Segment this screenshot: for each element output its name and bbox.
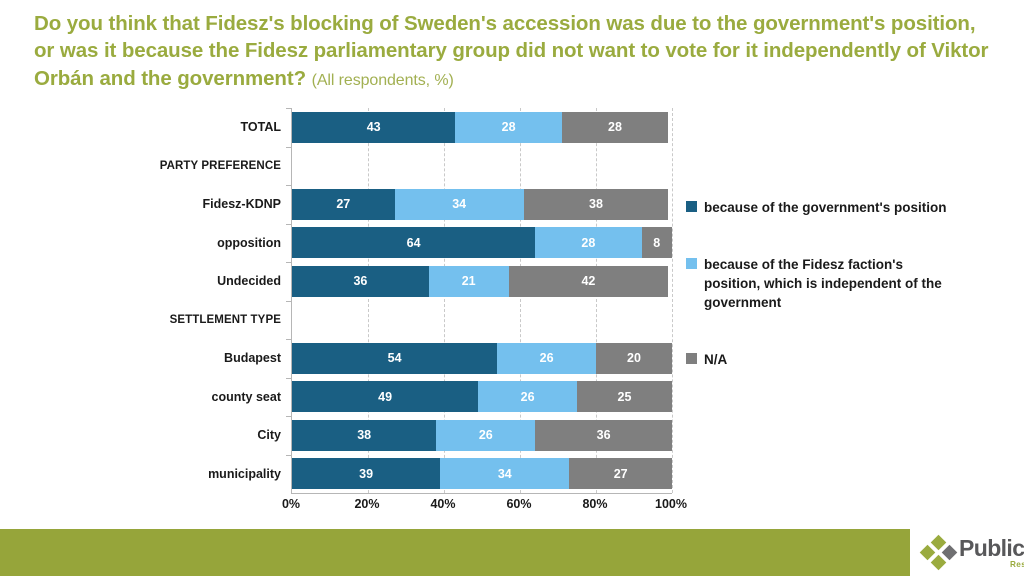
legend-label: N/A xyxy=(704,350,727,369)
legend-item[interactable]: because of the government's position xyxy=(686,198,947,217)
title-main: Do you think that Fidesz's blocking of S… xyxy=(34,12,988,90)
x-tick-label: 80% xyxy=(582,497,607,511)
category-label: Budapest xyxy=(142,339,292,378)
footer-bar xyxy=(0,529,910,576)
chart-bar-row: county seat492625 xyxy=(292,378,671,417)
bar-segment: 28 xyxy=(535,227,641,258)
stacked-bar: 432828 xyxy=(292,112,672,143)
bar-segment: 64 xyxy=(292,227,535,258)
stacked-bar: 273438 xyxy=(292,189,672,220)
bar-segment: 39 xyxy=(292,458,440,489)
stacked-bar: 393427 xyxy=(292,458,672,489)
slide: Do you think that Fidesz's blocking of S… xyxy=(0,0,1024,576)
bar-segment: 34 xyxy=(440,458,569,489)
bar-segment: 20 xyxy=(596,343,672,374)
group-label: SETTLEMENT TYPE xyxy=(142,301,292,340)
bar-segment: 54 xyxy=(292,343,497,374)
bar-segment: 27 xyxy=(569,458,672,489)
bar-segment: 8 xyxy=(642,227,672,258)
chart-bar-row: City382636 xyxy=(292,416,671,455)
x-tick-label: 20% xyxy=(354,497,379,511)
legend-item[interactable]: N/A xyxy=(686,350,727,369)
chart-bar-row: Fidesz-KDNP273438 xyxy=(292,185,671,224)
publicus-logo: Publicus Research xyxy=(922,536,1024,570)
bar-segment: 43 xyxy=(292,112,455,143)
category-label: county seat xyxy=(142,378,292,417)
diamond-cluster-icon xyxy=(922,536,956,570)
bar-segment: 21 xyxy=(429,266,509,297)
x-axis-line xyxy=(291,493,672,494)
chart-group-row: PARTY PREFERENCE xyxy=(292,147,671,186)
bar-segment: 38 xyxy=(524,189,668,220)
bar-segment: 26 xyxy=(478,381,577,412)
stacked-bar-chart: TOTAL432828PARTY PREFERENCEFidesz-KDNP27… xyxy=(0,103,700,513)
x-tick-label: 60% xyxy=(506,497,531,511)
category-label: City xyxy=(142,416,292,455)
logo-text: Publicus Research xyxy=(959,537,1024,569)
stacked-bar: 64288 xyxy=(292,227,672,258)
bar-segment: 27 xyxy=(292,189,395,220)
title-subtitle: (All respondents, %) xyxy=(312,72,454,89)
legend-swatch xyxy=(686,353,697,364)
bar-segment: 28 xyxy=(455,112,561,143)
gridline xyxy=(672,108,673,493)
x-axis-ticks: 0%20%40%60%80%100% xyxy=(291,497,671,519)
bar-segment: 26 xyxy=(497,343,596,374)
bar-segment: 36 xyxy=(292,266,429,297)
category-label: Fidesz-KDNP xyxy=(142,185,292,224)
legend-label: because of the Fidesz faction's position… xyxy=(704,255,959,312)
stacked-bar: 542620 xyxy=(292,343,672,374)
x-tick-label: 40% xyxy=(430,497,455,511)
bar-segment: 34 xyxy=(395,189,524,220)
plot-area: TOTAL432828PARTY PREFERENCEFidesz-KDNP27… xyxy=(291,108,671,493)
chart-bar-row: TOTAL432828 xyxy=(292,108,671,147)
stacked-bar: 492625 xyxy=(292,381,672,412)
chart-group-row: SETTLEMENT TYPE xyxy=(292,301,671,340)
category-label: municipality xyxy=(142,455,292,494)
chart-bar-row: opposition64288 xyxy=(292,224,671,263)
bar-segment: 49 xyxy=(292,381,478,412)
bar-segment: 28 xyxy=(562,112,668,143)
category-label: opposition xyxy=(142,224,292,263)
legend-label: because of the government's position xyxy=(704,198,947,217)
page-title: Do you think that Fidesz's blocking of S… xyxy=(34,10,994,92)
chart-bar-row: municipality393427 xyxy=(292,455,671,494)
legend-swatch xyxy=(686,258,697,269)
logo-subtitle: Research xyxy=(959,561,1024,569)
legend-item[interactable]: because of the Fidesz faction's position… xyxy=(686,255,959,312)
stacked-bar: 362142 xyxy=(292,266,672,297)
bar-segment: 26 xyxy=(436,420,535,451)
bar-segment: 42 xyxy=(509,266,669,297)
category-label: Undecided xyxy=(142,262,292,301)
bar-segment: 36 xyxy=(535,420,672,451)
logo-name: Publicus xyxy=(959,537,1024,560)
bar-segment: 38 xyxy=(292,420,436,451)
legend-swatch xyxy=(686,201,697,212)
bar-segment: 25 xyxy=(577,381,672,412)
category-label: TOTAL xyxy=(142,108,292,147)
chart-bar-row: Undecided362142 xyxy=(292,262,671,301)
stacked-bar: 382636 xyxy=(292,420,672,451)
x-tick-label: 100% xyxy=(655,497,687,511)
x-tick-label: 0% xyxy=(282,497,300,511)
group-label: PARTY PREFERENCE xyxy=(142,147,292,186)
chart-bar-row: Budapest542620 xyxy=(292,339,671,378)
